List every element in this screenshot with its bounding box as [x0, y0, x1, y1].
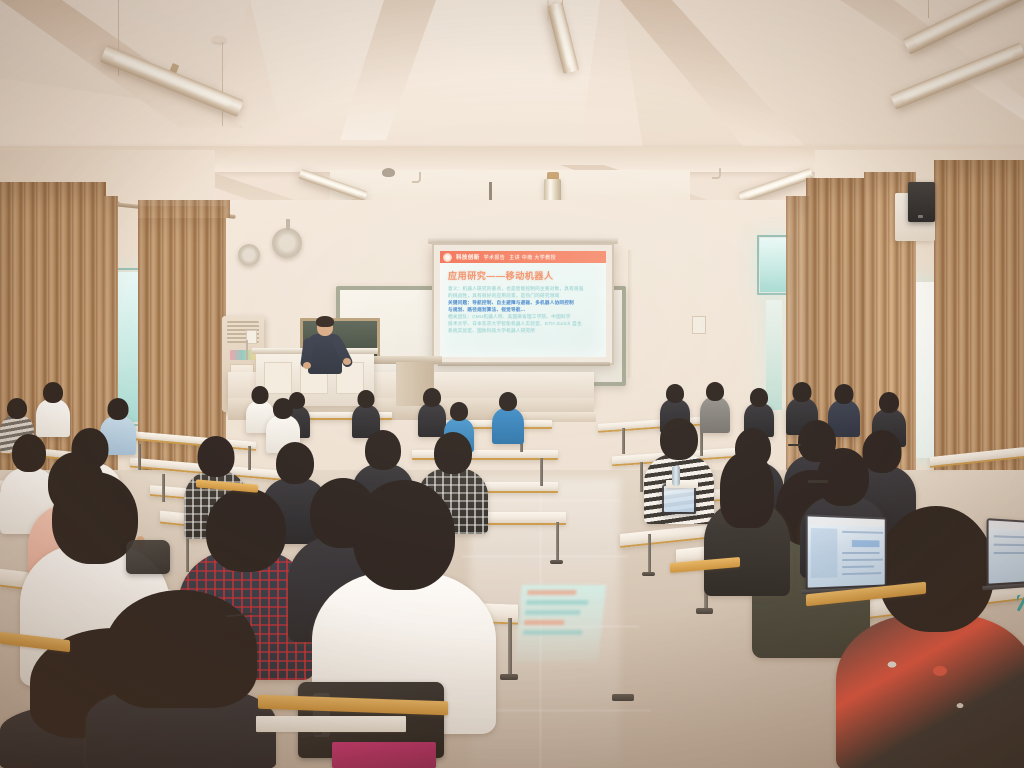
- student-head: [43, 382, 63, 403]
- spreadsheet-row: [842, 559, 883, 561]
- backpack-2[interactable]: [126, 540, 170, 574]
- student-torso: [492, 408, 524, 444]
- student-back-4: [418, 388, 446, 436]
- student-head: [750, 388, 768, 407]
- student-head: [353, 480, 455, 590]
- desk-leg: [556, 522, 559, 562]
- spreadsheet-row: [842, 552, 879, 554]
- desk-leg: [248, 446, 251, 470]
- glasses: [808, 480, 828, 483]
- slide-title: 应用研究——移动机器人: [448, 269, 606, 282]
- slide-bullet-2: 的挑战性，具有很好的应用前景，是热门的研究领域: [448, 292, 599, 299]
- student-head: [358, 390, 375, 408]
- presenter: [300, 318, 350, 380]
- desk-foot: [612, 694, 634, 701]
- student-head: [365, 430, 401, 470]
- spreadsheet-toolbar: [808, 516, 885, 527]
- slide-header-text-right: 主讲 中南 大学教授: [509, 254, 556, 261]
- desk-foot: [500, 674, 518, 680]
- desk-leg: [138, 444, 141, 470]
- student-right-longhair: [704, 452, 790, 594]
- water-bottle[interactable]: [672, 466, 680, 486]
- wall-trunking: [628, 250, 633, 378]
- presentation-slide: 科技创新 学术报告 主讲 中南 大学教授 应用研究——移动机器人 意义：机器人研…: [440, 251, 606, 357]
- student-head: [273, 398, 293, 419]
- student-head: [660, 418, 698, 460]
- spreadsheet-row: [842, 572, 881, 574]
- desk-leg: [622, 428, 625, 454]
- slide-bullet-5: 相关团队：CMU机器人所、美国麻省理工学院、中国科学: [448, 313, 599, 320]
- student-head: [7, 398, 27, 419]
- student-head: [720, 452, 774, 528]
- ceiling-hook-2: [412, 172, 421, 183]
- presenter-hand-left: [303, 362, 311, 369]
- curtain-valance-left: [138, 200, 230, 218]
- wall-switch: [246, 330, 257, 344]
- speaker-led: [918, 215, 923, 218]
- student-head: [108, 398, 129, 420]
- desk-leg: [640, 462, 643, 492]
- desk-leg: [508, 618, 512, 678]
- presenter-hair: [316, 316, 334, 327]
- student-head: [198, 436, 235, 477]
- reflection-line: [524, 620, 565, 625]
- spreadsheet-row: [994, 552, 1024, 554]
- slide-bullet-1: 意义：机器人研究的重点，也是智能控制的主要对象，具有很强: [448, 285, 599, 292]
- student-head: [817, 448, 869, 506]
- laptop-lid: [806, 514, 887, 590]
- desk-leg: [540, 458, 543, 486]
- floral-teal-accent: [1017, 595, 1024, 611]
- ceiling-rose-1: [212, 36, 226, 43]
- student-head: [878, 506, 994, 632]
- desk-foot: [550, 560, 563, 564]
- ceiling-hook-3: [712, 168, 721, 179]
- desk-leg: [648, 534, 651, 576]
- notebook-1[interactable]: [256, 716, 406, 732]
- laptop-lid: [987, 518, 1024, 586]
- lamp-cap: [547, 172, 559, 179]
- student-head: [434, 432, 472, 474]
- student-torso: [836, 614, 1024, 768]
- slide-body: 意义：机器人研究的重点，也是智能控制的主要对象，具有很强 的挑战性，具有很好的应…: [440, 285, 606, 334]
- curtain-panel-right-3: [934, 160, 1024, 472]
- slide-bullet-4: 与规划、路径规划算法、视觉导航…: [448, 306, 599, 313]
- student-head: [499, 392, 517, 411]
- presenter-hand-right: [343, 358, 351, 365]
- pencil-pouch[interactable]: [332, 742, 436, 768]
- spreadsheet-cell-selection: [852, 540, 880, 547]
- light-wire-4: [928, 0, 929, 18]
- student-head: [105, 590, 257, 708]
- spreadsheet-row: [842, 566, 874, 568]
- laptop-3[interactable]: [662, 484, 696, 514]
- slide-bullet-6: 技术大学、日本东京大学智能机器人实验室、ETH Zurich 自主: [448, 320, 599, 327]
- fan-cage: [238, 244, 260, 266]
- projection-screen: 科技创新 学术报告 主讲 中南 大学教授 应用研究——移动机器人 意义：机器人研…: [432, 243, 614, 365]
- reflection-line: [526, 600, 589, 605]
- student-head: [423, 388, 441, 407]
- light-wire-2: [222, 38, 223, 126]
- reflection-line: [527, 590, 576, 595]
- projection-screen-weight-bar: [438, 362, 610, 366]
- university-seal-logo: [443, 253, 452, 262]
- student-head: [835, 384, 854, 404]
- slide-bullet-3: 关键问题：导航控制、自主避障与避碰、多机器人协同控制: [448, 299, 599, 306]
- notebook-2[interactable]: [666, 480, 698, 488]
- student-head: [666, 384, 684, 403]
- spreadsheet-row: [994, 544, 1024, 546]
- laptop-screen: [664, 486, 694, 512]
- laptop-lid: [662, 484, 696, 514]
- microphone-stand: [246, 340, 248, 360]
- slide-bullet-7: 系统实验室、国防科技大学机器人研究所: [448, 327, 599, 334]
- wall-outlet: [692, 316, 706, 334]
- wall-mounted-fan-left: [272, 228, 302, 258]
- fan-cage: [272, 228, 302, 258]
- slide-header-text-left: 科技创新: [456, 253, 480, 261]
- fan-arm: [286, 219, 290, 230]
- smoke-detector: [382, 168, 395, 177]
- glasses: [788, 444, 801, 446]
- student-head: [793, 382, 812, 402]
- wall-speaker: [908, 182, 935, 222]
- spreadsheet-row: [842, 531, 883, 533]
- student-head: [206, 488, 286, 572]
- laptop-1[interactable]: [806, 514, 887, 590]
- laptop-screen: [989, 520, 1024, 583]
- laptop-2[interactable]: [987, 518, 1024, 586]
- student-head: [450, 402, 468, 421]
- desk-foot: [696, 608, 713, 614]
- spreadsheet-row: [994, 535, 1024, 538]
- slide-header-banner: 科技创新 学术报告 主讲 中南 大学教授: [440, 251, 606, 263]
- student-head: [706, 382, 724, 401]
- wall-mounted-fan-left-2: [238, 244, 260, 266]
- reflection-line: [523, 630, 582, 635]
- laptop-screen: [808, 516, 885, 587]
- slide-header-text-mid: 学术报告: [484, 254, 506, 261]
- student-head: [879, 392, 899, 413]
- classroom-lecture-photo: 科技创新 学术报告 主讲 中南 大学教授 应用研究——移动机器人 意义：机器人研…: [0, 0, 1024, 768]
- reflection-line: [525, 610, 581, 615]
- spreadsheet-toolbar: [989, 520, 1024, 530]
- spreadsheet-panel: [811, 528, 837, 578]
- slide-floor-reflection: [514, 585, 606, 663]
- lamp-wire: [548, 0, 549, 21]
- student-foreground-bottom-center: [86, 590, 276, 768]
- desk-foot: [642, 572, 655, 576]
- student-back-5-blue: [492, 392, 524, 442]
